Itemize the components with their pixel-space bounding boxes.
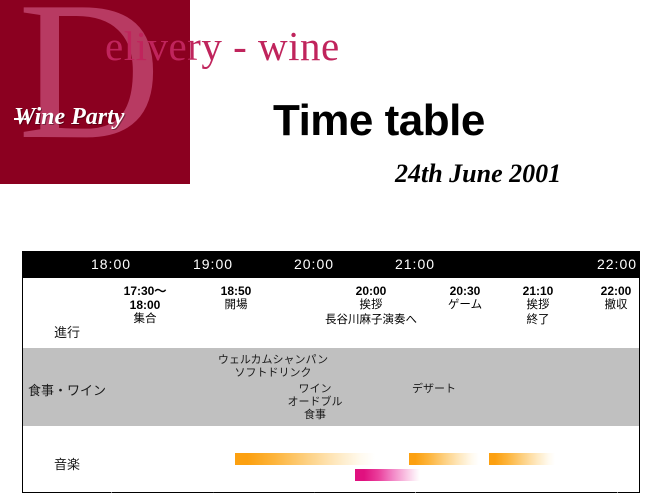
- food-entry-3-line1: デザート: [412, 383, 456, 396]
- timetable: 18:00 19:00 20:00 21:00 22:00 進行 17:30～ …: [22, 251, 640, 493]
- page-date: 24th June 2001: [395, 159, 561, 189]
- food-entry-3: デザート: [412, 383, 456, 396]
- food-entry-2: ワイン オードブル 食事: [288, 383, 343, 422]
- progress-entry-3: 20:00 挨拶 長谷川麻子演奏へ: [325, 284, 417, 328]
- axis-label-1900: 19:00: [193, 256, 233, 272]
- progress-entry-1: 17:30～ 18:00 集合: [124, 284, 167, 327]
- brand-title: elivery - wine: [105, 22, 340, 70]
- food-entry-1-line2: ソフトドリンク: [218, 367, 328, 380]
- progress-entry-2-desc: 開場: [221, 298, 252, 313]
- progress-entry-3-desc: 挨拶: [325, 298, 417, 313]
- food-entry-1-line1: ウェルカムシャンパン: [218, 354, 328, 367]
- progress-entry-1-desc: 集合: [124, 312, 167, 327]
- row-label-music: 音楽: [23, 454, 111, 473]
- row-label-food: 食事・ワイン: [23, 380, 111, 399]
- timetable-row-music: 音楽: [23, 426, 639, 492]
- progress-entry-4-time: 20:30: [448, 284, 482, 298]
- axis-label-1800: 18:00: [91, 256, 131, 272]
- progress-entry-5-desc2: 終了: [523, 313, 554, 328]
- row-label-progress: 進行: [23, 322, 111, 341]
- music-bar-4: [489, 453, 555, 465]
- progress-entry-1-time2: 18:00: [124, 298, 167, 312]
- logo-subtitle: Wine Party: [14, 104, 124, 131]
- progress-entry-4-desc: ゲーム: [448, 298, 482, 313]
- food-entry-2-line3: 食事: [288, 409, 343, 422]
- food-entry-2-line1: ワイン: [288, 383, 343, 396]
- axis-label-2100: 21:00: [395, 256, 435, 272]
- timetable-row-progress: 進行 17:30～ 18:00 集合 18:50 開場 20:00 挨拶 長谷川…: [23, 278, 639, 348]
- axis-label-2000: 20:00: [294, 256, 334, 272]
- progress-entry-6-time: 22:00: [601, 284, 632, 298]
- progress-entry-5: 21:10 挨拶 終了: [523, 284, 554, 328]
- progress-entry-3-time: 20:00: [325, 284, 417, 298]
- progress-entry-2: 18:50 開場: [221, 284, 252, 313]
- page-title: Time table: [273, 96, 485, 146]
- progress-entry-4: 20:30 ゲーム: [448, 284, 482, 313]
- timetable-row-food: 食事・ワイン ウェルカムシャンパン ソフトドリンク ワイン オードブル 食事 デ…: [23, 348, 639, 426]
- progress-entry-3-desc2: 長谷川麻子演奏へ: [325, 313, 417, 328]
- axis-label-2200: 22:00: [597, 256, 637, 272]
- progress-entry-5-time: 21:10: [523, 284, 554, 298]
- music-bar-2: [355, 469, 420, 481]
- food-entry-2-line2: オードブル: [288, 396, 343, 409]
- progress-entry-1-time: 17:30～: [124, 284, 167, 298]
- progress-entry-6: 22:00 撤収: [601, 284, 632, 313]
- music-bar-1: [235, 453, 375, 465]
- music-bar-3: [409, 453, 479, 465]
- food-entry-1: ウェルカムシャンパン ソフトドリンク: [218, 354, 328, 380]
- progress-entry-6-desc: 撤収: [601, 298, 632, 313]
- progress-entry-5-desc: 挨拶: [523, 298, 554, 313]
- progress-entry-2-time: 18:50: [221, 284, 252, 298]
